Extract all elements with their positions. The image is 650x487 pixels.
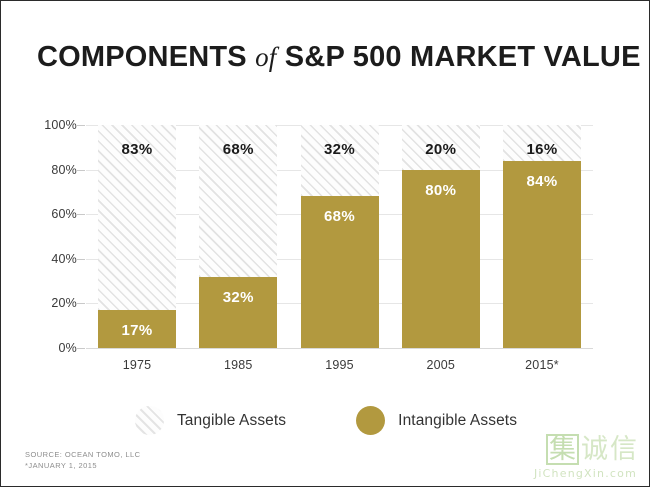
y-axis-tick-mark	[77, 259, 85, 260]
bar-label-intangible: 17%	[122, 323, 153, 348]
y-axis-tick-mark	[77, 170, 85, 171]
legend-label: Intangible Assets	[398, 412, 517, 430]
source-line-2: *JANUARY 1, 2015	[25, 460, 141, 472]
chart-plot-area: 0%20%40%60%80%100% 83%17%197568%32%19853…	[86, 125, 593, 348]
bar-segment-tangible[interactable]: 32%	[301, 125, 379, 196]
title-part-2: S&P 500 MARKET VALUE	[285, 41, 641, 73]
y-axis-tick-label: 100%	[44, 118, 77, 132]
bar-group[interactable]: 83%17%1975	[98, 125, 176, 348]
x-axis-tick-label: 1985	[199, 358, 277, 372]
gridline: 0%	[86, 348, 593, 349]
x-axis-tick-label: 2005	[402, 358, 480, 372]
y-axis-tick-mark	[77, 348, 85, 349]
bar-segment-tangible[interactable]: 16%	[503, 125, 581, 161]
bar-series-container: 83%17%197568%32%198532%68%199520%80%2005…	[86, 125, 593, 348]
watermark: 集 诚 信 JiChengXin.com	[534, 434, 637, 480]
chart-card: COMPONENTS of S&P 500 MARKET VALUE 0%20%…	[0, 0, 650, 487]
legend-item[interactable]: Intangible Assets	[356, 406, 517, 435]
title-part-1: COMPONENTS	[37, 41, 247, 73]
gold-circle-icon	[356, 406, 385, 435]
legend-item[interactable]: Tangible Assets	[135, 406, 286, 435]
bar-label-tangible: 83%	[122, 142, 153, 310]
chart-legend: Tangible AssetsIntangible Assets	[1, 406, 650, 435]
bar-segment-tangible[interactable]: 68%	[199, 125, 277, 277]
y-axis-tick-label: 20%	[51, 296, 77, 310]
bar-label-tangible: 16%	[527, 142, 558, 161]
bar-label-tangible: 68%	[223, 142, 254, 277]
bar-label-intangible: 80%	[425, 183, 456, 348]
hatched-circle-icon	[135, 406, 164, 435]
x-axis-tick-label: 1995	[301, 358, 379, 372]
watermark-glyph-2: 诚	[581, 436, 608, 463]
watermark-glyph-3: 信	[610, 436, 637, 463]
bar-group[interactable]: 32%68%1995	[301, 125, 379, 348]
y-axis-tick-mark	[77, 214, 85, 215]
bar-label-tangible: 20%	[425, 142, 456, 170]
y-axis-tick-mark	[77, 125, 85, 126]
page-title: COMPONENTS of S&P 500 MARKET VALUE	[37, 41, 641, 74]
x-axis-tick-label: 2015*	[503, 358, 581, 372]
y-axis-tick-label: 0%	[59, 341, 77, 355]
bar-label-intangible: 68%	[324, 209, 355, 348]
bar-segment-intangible[interactable]: 80%	[402, 170, 480, 348]
bar-segment-tangible[interactable]: 83%	[98, 125, 176, 310]
legend-label: Tangible Assets	[177, 412, 286, 430]
bar-segment-tangible[interactable]: 20%	[402, 125, 480, 170]
watermark-glyph-1: 集	[546, 434, 579, 465]
y-axis-tick-label: 60%	[51, 207, 77, 221]
source-line-1: SOURCE: OCEAN TOMO, LLC	[25, 449, 141, 461]
y-axis-tick-mark	[77, 303, 85, 304]
bar-segment-intangible[interactable]: 68%	[301, 196, 379, 348]
x-axis-tick-label: 1975	[98, 358, 176, 372]
watermark-logo-icon: 集 诚 信	[534, 434, 637, 465]
bar-label-tangible: 32%	[324, 142, 355, 196]
bar-segment-intangible[interactable]: 32%	[199, 277, 277, 348]
bar-segment-intangible[interactable]: 84%	[503, 161, 581, 348]
source-note: SOURCE: OCEAN TOMO, LLC *JANUARY 1, 2015	[25, 449, 141, 472]
bar-group[interactable]: 16%84%2015*	[503, 125, 581, 348]
bar-group[interactable]: 68%32%1985	[199, 125, 277, 348]
watermark-url: JiChengXin.com	[534, 467, 637, 480]
y-axis-tick-label: 40%	[51, 252, 77, 266]
bar-label-intangible: 84%	[527, 174, 558, 348]
y-axis-tick-label: 80%	[51, 163, 77, 177]
bar-label-intangible: 32%	[223, 290, 254, 348]
title-italic-of: of	[255, 42, 276, 72]
bar-segment-intangible[interactable]: 17%	[98, 310, 176, 348]
bar-group[interactable]: 20%80%2005	[402, 125, 480, 348]
